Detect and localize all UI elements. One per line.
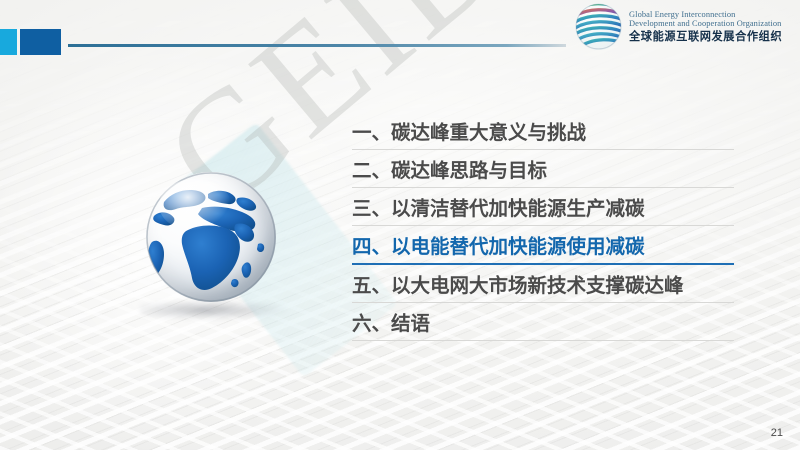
agenda-item-2[interactable]: 二、 碳达峰思路与目标 [352,150,734,188]
agenda-item-3-number: 三、 [352,192,391,221]
agenda-item-4-number: 四、 [352,230,391,259]
agenda-item-3-label: 以清洁替代加快能源生产减碳 [391,192,645,221]
agenda-item-6-number: 六、 [352,307,391,336]
agenda-item-1[interactable]: 一、 碳达峰重大意义与挑战 [352,112,734,150]
header-divider-rule [68,44,566,47]
agenda-item-6-label: 结语 [391,307,430,336]
agenda-item-2-number: 二、 [352,154,391,183]
presentation-slide: GEIDCO [0,0,800,450]
brand-line-en-2: Development and Cooperation Organization [629,19,782,28]
brand-line-en-1: Global Energy Interconnection [629,10,782,19]
agenda-item-4-label: 以电能替代加快能源使用减碳 [391,230,645,259]
header-accent-square-cyan [0,29,17,55]
globe-drop-shadow [140,300,288,320]
brand-text-block: Global Energy Interconnection Developmen… [629,10,782,42]
agenda-item-5[interactable]: 五、 以大电网大市场新技术支撑碳达峰 [352,265,734,303]
header-accent-rectangle-blue [20,29,61,55]
agenda-item-3[interactable]: 三、 以清洁替代加快能源生产减碳 [352,188,734,226]
agenda-item-2-label: 碳达峰思路与目标 [391,154,547,183]
agenda-item-5-label: 以大电网大市场新技术支撑碳达峰 [391,269,684,298]
earth-globe-icon [146,172,276,302]
agenda-item-5-number: 五、 [352,269,391,298]
brand-logo: Global Energy Interconnection Developmen… [575,3,782,50]
geidco-globe-icon [575,3,622,50]
agenda-item-6[interactable]: 六、 结语 [352,303,734,341]
page-number: 21 [771,427,783,439]
brand-line-cn: 全球能源互联网发展合作组织 [629,31,782,43]
globe-illustration [140,172,290,337]
agenda-item-1-number: 一、 [352,116,391,145]
agenda-list: 一、 碳达峰重大意义与挑战 二、 碳达峰思路与目标 三、 以清洁替代加快能源生产… [352,112,734,341]
agenda-item-4[interactable]: 四、 以电能替代加快能源使用减碳 [352,226,734,265]
agenda-item-1-label: 碳达峰重大意义与挑战 [391,116,586,145]
